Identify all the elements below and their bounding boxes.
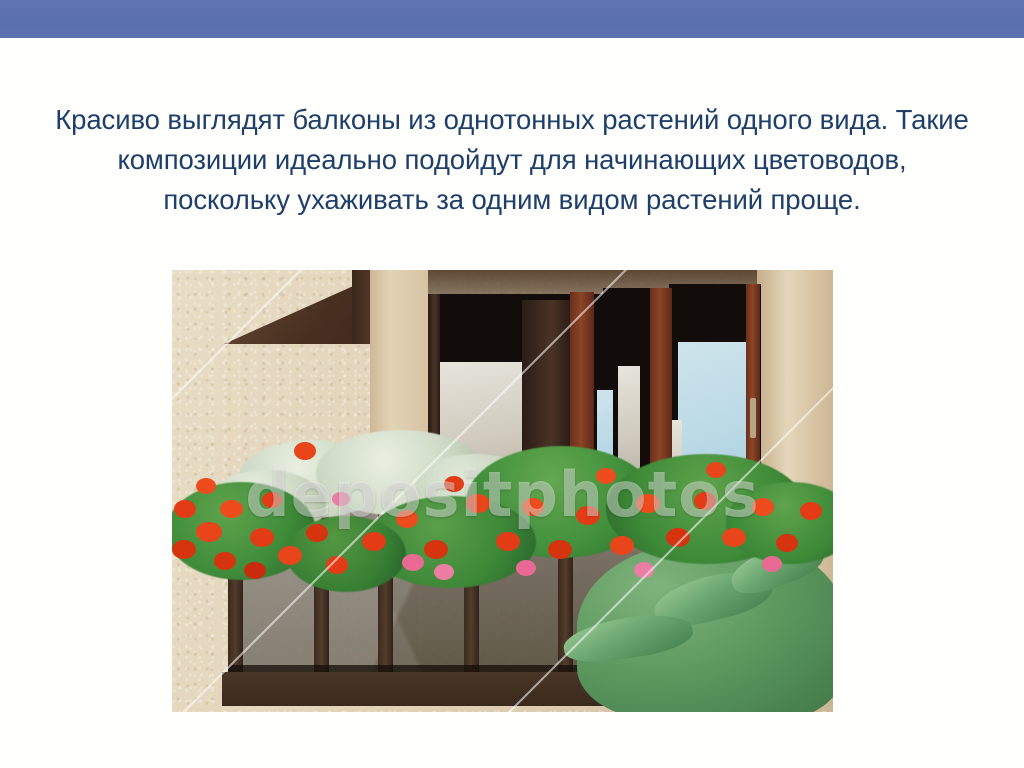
red-geranium [250, 528, 274, 547]
red-geranium [800, 502, 822, 520]
red-geranium [522, 498, 544, 516]
red-geranium [496, 532, 520, 551]
red-geranium [326, 556, 348, 574]
red-geranium [396, 510, 418, 528]
balcony-photo: depositphotos [172, 270, 833, 712]
red-geranium [424, 540, 448, 559]
red-geranium [262, 492, 282, 508]
red-geranium [666, 528, 690, 547]
red-geranium [278, 546, 302, 565]
red-geranium [444, 476, 464, 492]
red-geranium [214, 552, 236, 570]
red-geranium [196, 478, 216, 494]
red-geranium [694, 492, 716, 510]
red-geranium [362, 532, 386, 551]
red-geranium [610, 536, 634, 555]
pink-geranium [434, 564, 454, 580]
red-geranium [196, 522, 222, 542]
red-geranium [548, 540, 572, 559]
green-foliage [286, 516, 406, 592]
red-geranium [752, 498, 774, 516]
red-geranium [706, 462, 726, 478]
red-geranium [306, 524, 328, 542]
pink-geranium [402, 554, 424, 571]
red-geranium [244, 562, 266, 579]
top-accent-band [0, 0, 1024, 38]
pink-geranium [762, 556, 782, 572]
pink-geranium [516, 560, 536, 576]
red-geranium [172, 540, 196, 559]
red-geranium [220, 500, 243, 518]
red-geranium [722, 528, 746, 547]
pink-geranium [634, 562, 654, 578]
slide-caption-text: Красиво выглядят балконы из однотонных р… [52, 100, 972, 220]
red-geranium [596, 468, 616, 484]
photo-content: depositphotos [172, 270, 833, 712]
red-geranium [174, 500, 196, 518]
red-geranium [294, 442, 316, 460]
red-geranium [466, 494, 490, 513]
red-geranium [776, 534, 798, 552]
red-geranium [636, 494, 660, 513]
pink-geranium [332, 492, 350, 506]
flower-box-planting [172, 436, 833, 586]
window-handle [750, 398, 756, 438]
red-geranium [576, 506, 600, 525]
